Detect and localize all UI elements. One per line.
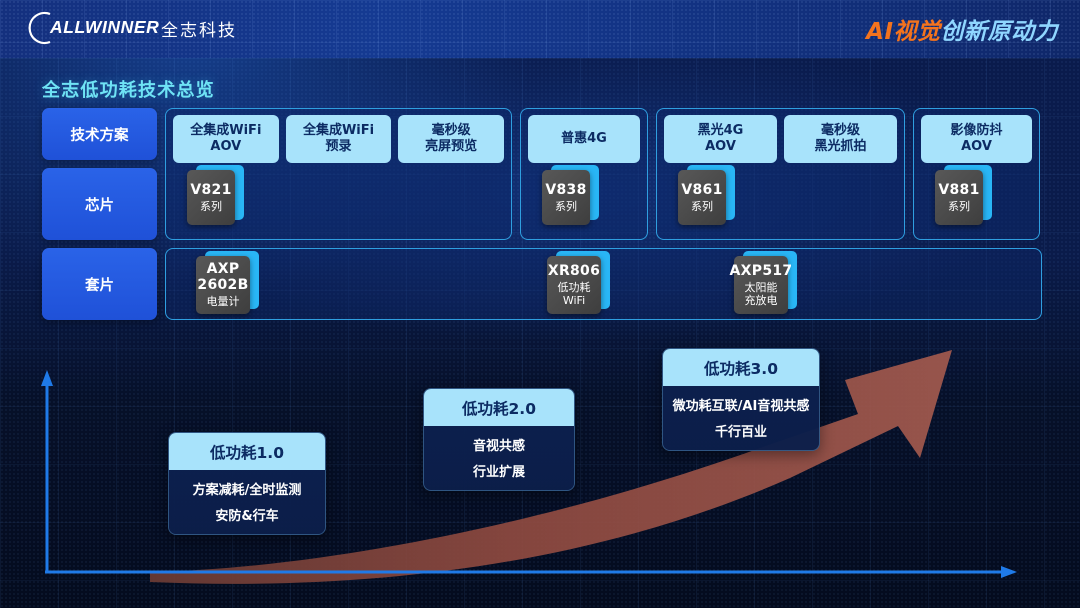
module-row-container: AXP 2602B 电量计 XR806 低功耗 WiFi AXP517 太阳能 …: [165, 248, 1042, 320]
stage-title-3: 低功耗3.0: [663, 349, 819, 386]
chip-sub: 电量计: [207, 296, 240, 309]
stage-line-1-1: 方案减耗/全时监测: [193, 479, 302, 498]
stage-title-1: 低功耗1.0: [169, 433, 325, 470]
technology-matrix: 技术方案 芯片 套片 全集成WiFi AOV 全集成WiFi 预录 毫秒级 亮屏…: [42, 108, 1042, 324]
chip-v838[interactable]: V838 系列: [542, 170, 590, 225]
chip-name: V821: [190, 182, 231, 198]
tech-row-g4: 影像防抖 AOV: [921, 115, 1032, 163]
chip-body: V821 系列: [187, 170, 235, 225]
chip-row-g4: V881 系列: [921, 163, 1032, 232]
chip-body: V861 系列: [678, 170, 726, 225]
chip-row-g3: V861 系列: [664, 163, 897, 232]
row-label-chip[interactable]: 芯片: [42, 168, 157, 240]
slogan-rest-text: 创新原动力: [941, 19, 1059, 45]
logo-chinese-name: 全志科技: [161, 16, 237, 41]
logo-wordmark: ALLWINNER: [50, 17, 159, 38]
stage-body-2: 音视共感 行业扩展: [424, 426, 574, 490]
tech-box-eis-aov[interactable]: 影像防抖 AOV: [921, 115, 1032, 163]
header-slogan: AI视觉创新原动力: [866, 12, 1058, 46]
stage-line-2-2: 行业扩展: [473, 461, 525, 480]
slide-header: ALLWINNER 全志科技 AI视觉创新原动力: [0, 0, 1080, 58]
brand-logo: ALLWINNER 全志科技: [24, 11, 237, 45]
module-axp2602b[interactable]: AXP 2602B 电量计: [196, 256, 250, 314]
matrix-group-v881: 影像防抖 AOV V881 系列: [913, 108, 1040, 240]
chip-sub: 系列: [948, 201, 970, 214]
chip-body: AXP517 太阳能 充放电: [734, 256, 788, 314]
y-axis-arrowhead-icon: [41, 370, 53, 386]
chip-row-g1: V821 系列: [173, 163, 504, 232]
page-title: 全志低功耗技术总览: [42, 76, 215, 102]
tech-box-ms-blacklight-capture[interactable]: 毫秒级 黑光抓拍: [784, 115, 897, 163]
chip-sub: 系列: [200, 201, 222, 214]
tech-row-g2: 普惠4G: [528, 115, 640, 163]
tech-box-wifi-aov[interactable]: 全集成WiFi AOV: [173, 115, 279, 163]
tech-box-ms-preview[interactable]: 毫秒级 亮屏预览: [398, 115, 504, 163]
x-axis-arrowhead-icon: [1001, 566, 1017, 578]
roadmap-chart: 低功耗1.0 方案减耗/全时监测 安防&行车 低功耗2.0 音视共感 行业扩展 …: [0, 330, 1080, 608]
stage-line-3-2: 千行百业: [715, 421, 767, 440]
stage-card-1[interactable]: 低功耗1.0 方案减耗/全时监测 安防&行车: [168, 432, 326, 535]
row-label-module[interactable]: 套片: [42, 248, 157, 320]
chip-name: V881: [938, 182, 979, 198]
row-label-technology[interactable]: 技术方案: [42, 108, 157, 160]
matrix-group-v821: 全集成WiFi AOV 全集成WiFi 预录 毫秒级 亮屏预览 V821 系列: [165, 108, 512, 240]
chip-body: V881 系列: [935, 170, 983, 225]
stage-body-3: 微功耗互联/AI音视共感 千行百业: [663, 386, 819, 450]
matrix-group-v861: 黑光4G AOV 毫秒级 黑光抓拍 V861 系列: [656, 108, 905, 240]
module-axp517[interactable]: AXP517 太阳能 充放电: [734, 256, 788, 314]
module-xr806[interactable]: XR806 低功耗 WiFi: [547, 256, 601, 314]
chip-name: V861: [681, 182, 722, 198]
tech-row-g3: 黑光4G AOV 毫秒级 黑光抓拍: [664, 115, 897, 163]
stage-line-1-2: 安防&行车: [215, 505, 278, 524]
chip-body: XR806 低功耗 WiFi: [547, 256, 601, 314]
stage-line-2-1: 音视共感: [473, 435, 525, 454]
chip-name: AXP 2602B: [196, 261, 250, 293]
tech-box-puhui-4g[interactable]: 普惠4G: [528, 115, 640, 163]
tech-box-blacklight-4g-aov[interactable]: 黑光4G AOV: [664, 115, 777, 163]
slogan-ai-text: AI视觉: [866, 19, 940, 45]
tech-box-wifi-prerecord[interactable]: 全集成WiFi 预录: [286, 115, 392, 163]
slide-root: ALLWINNER 全志科技 AI视觉创新原动力 全志低功耗技术总览 技术方案 …: [0, 0, 1080, 608]
allwinner-logo-icon: ALLWINNER: [24, 11, 148, 45]
stage-body-1: 方案减耗/全时监测 安防&行车: [169, 470, 325, 534]
matrix-groups: 全集成WiFi AOV 全集成WiFi 预录 毫秒级 亮屏预览 V821 系列: [165, 108, 1042, 240]
stage-card-3[interactable]: 低功耗3.0 微功耗互联/AI音视共感 千行百业: [662, 348, 820, 451]
chip-name: XR806: [548, 263, 600, 279]
chip-v881[interactable]: V881 系列: [935, 170, 983, 225]
stage-line-3-1: 微功耗互联/AI音视共感: [673, 395, 810, 414]
chip-name: AXP517: [730, 263, 793, 279]
chip-name: V838: [545, 182, 586, 198]
chip-sub: 系列: [691, 201, 713, 214]
chip-v861[interactable]: V861 系列: [678, 170, 726, 225]
stage-title-2: 低功耗2.0: [424, 389, 574, 426]
chip-sub: 系列: [555, 201, 577, 214]
stage-card-2[interactable]: 低功耗2.0 音视共感 行业扩展: [423, 388, 575, 491]
matrix-group-v838: 普惠4G V838 系列: [520, 108, 648, 240]
chip-sub: 低功耗 WiFi: [558, 282, 591, 307]
tech-row-g1: 全集成WiFi AOV 全集成WiFi 预录 毫秒级 亮屏预览: [173, 115, 504, 163]
chip-body: AXP 2602B 电量计: [196, 256, 250, 314]
chip-row-g2: V838 系列: [528, 163, 640, 232]
chip-v821[interactable]: V821 系列: [187, 170, 235, 225]
chip-body: V838 系列: [542, 170, 590, 225]
chip-sub: 太阳能 充放电: [745, 282, 778, 307]
